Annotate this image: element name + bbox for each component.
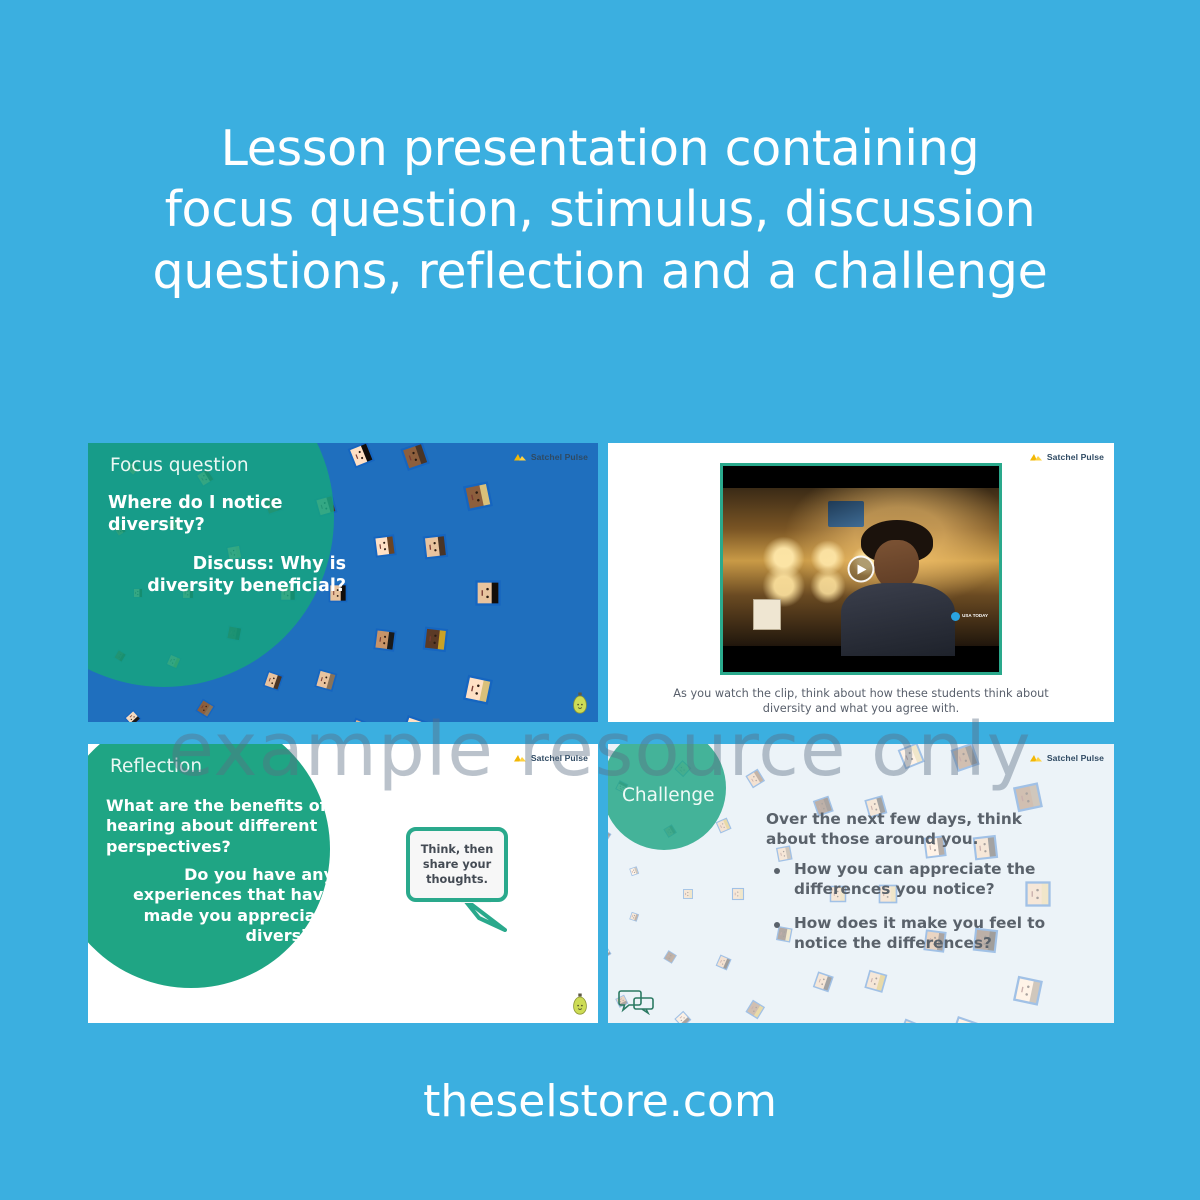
- usa-today-dot-icon: [951, 612, 960, 621]
- speech-bubble-text: Think, then share your thoughts.: [410, 842, 504, 888]
- page-title: Lesson presentation containing focus que…: [60, 118, 1140, 302]
- reflection-question-secondary: Do you have any experiences that have ma…: [106, 865, 334, 947]
- page-title-line-3: questions, reflection and a challenge: [60, 241, 1140, 302]
- pear-mascot-icon: [572, 993, 588, 1015]
- satchel-pulse-logo: Satchel Pulse: [1029, 452, 1104, 462]
- usa-today-badge: USA TODAY: [951, 612, 988, 621]
- play-triangle: [858, 564, 867, 574]
- reflection-question-primary: What are the benefits of hearing about d…: [106, 796, 331, 857]
- video-subject: [850, 520, 944, 646]
- mountain-logo-icon: [513, 452, 527, 462]
- mountain-logo-icon: [1029, 753, 1043, 763]
- challenge-lead-text: Over the next few days, think about thos…: [766, 810, 1071, 850]
- video-player[interactable]: USA TODAY: [720, 463, 1002, 675]
- site-url: theselstore.com: [0, 1076, 1200, 1127]
- slide-reflection[interactable]: Reflection What are the benefits of hear…: [88, 744, 598, 1023]
- satchel-pulse-logo: Satchel Pulse: [513, 452, 588, 462]
- pear-mascot-icon: [572, 692, 588, 714]
- challenge-bullet-list: How you can appreciate the differences y…: [766, 860, 1082, 968]
- satchel-pulse-logo: Satchel Pulse: [513, 753, 588, 763]
- page-title-line-1: Lesson presentation containing: [60, 118, 1140, 179]
- satchel-pulse-logo-text: Satchel Pulse: [531, 753, 588, 763]
- page-title-line-2: focus question, stimulus, discussion: [60, 179, 1140, 240]
- usa-today-label: USA TODAY: [962, 614, 988, 619]
- focus-question-primary: Where do I notice diversity?: [108, 493, 343, 536]
- slide-challenge[interactable]: Challenge Over the next few days, think …: [608, 744, 1114, 1023]
- satchel-pulse-logo-text: Satchel Pulse: [1047, 753, 1104, 763]
- slide-stimulus-video[interactable]: Satchel Pulse USA TODAY: [608, 443, 1114, 722]
- stimulus-caption: As you watch the clip, think about how t…: [668, 686, 1054, 717]
- mountain-logo-icon: [513, 753, 527, 763]
- mountain-logo-icon: [1029, 452, 1043, 462]
- satchel-pulse-logo: Satchel Pulse: [1029, 753, 1104, 763]
- slide-focus-question[interactable]: Focus question Where do I notice diversi…: [88, 443, 598, 722]
- speech-bubble: Think, then share your thoughts.: [406, 827, 508, 902]
- focus-question-secondary: Discuss: Why is diversity beneficial?: [108, 554, 346, 597]
- satchel-pulse-logo-text: Satchel Pulse: [1047, 452, 1104, 462]
- video-frame: USA TODAY: [723, 466, 999, 672]
- background-picture-frame: [753, 599, 781, 631]
- satchel-pulse-logo-text: Satchel Pulse: [531, 452, 588, 462]
- poster-canvas: Lesson presentation containing focus que…: [0, 0, 1200, 1200]
- speech-bubbles-icon: [618, 987, 656, 1015]
- slide-label-challenge: Challenge: [622, 785, 715, 806]
- list-item: How does it make you feel to notice the …: [766, 914, 1082, 954]
- list-item: How you can appreciate the differences y…: [766, 860, 1082, 900]
- slide-label-reflection: Reflection: [110, 756, 202, 777]
- play-button-icon[interactable]: [848, 556, 875, 583]
- slide-label-focus: Focus question: [110, 455, 249, 476]
- subject-torso: [841, 583, 955, 656]
